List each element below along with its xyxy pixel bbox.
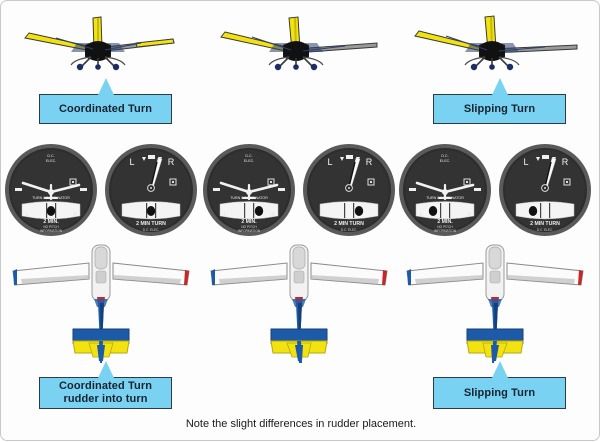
- svg-text:TURN COORDINATOR: TURN COORDINATOR: [32, 196, 70, 200]
- callout-pointer: [98, 361, 114, 378]
- column-coordinated: D.C. ELEC. TURN COORDINATOR: [1, 1, 201, 442]
- svg-text:L: L: [523, 157, 528, 167]
- svg-text:TURN COORDINATOR: TURN COORDINATOR: [230, 196, 268, 200]
- svg-text:2 MIN TURN: 2 MIN TURN: [530, 221, 560, 227]
- svg-text:D.C.: D.C.: [441, 154, 448, 158]
- svg-text:D.C. ELEC.: D.C. ELEC.: [537, 228, 554, 232]
- callout-bottom-coordinated: Coordinated Turn rudder into turn: [39, 377, 172, 409]
- callout-top-label: Coordinated Turn: [55, 103, 156, 116]
- turn-coordinator-instrument-2: D.C. ELEC. TURN COORDINATOR: [203, 144, 295, 236]
- callout-top-coordinated: Coordinated Turn: [39, 94, 172, 124]
- svg-text:R: R: [73, 212, 77, 218]
- bottom-aircraft-skidding: [395, 241, 595, 371]
- svg-text:INFORMATION: INFORMATION: [434, 229, 457, 233]
- column-slipping: D.C. ELEC. TURN COORDINATOR: [199, 1, 399, 442]
- svg-text:ELEC.: ELEC.: [46, 159, 56, 163]
- column-skidding: D.C. ELEC. TURN COORDINATOR: [395, 1, 595, 442]
- turn-and-slip-indicator-2: L R 2 M: [303, 144, 395, 236]
- top-aircraft-skidding: [395, 5, 595, 71]
- svg-text:L: L: [25, 212, 28, 218]
- turn-coordinator-instrument-3: D.C. ELEC. TURN COORDINATOR: [399, 144, 491, 236]
- turn-and-slip-indicator-1: L R 2 M: [105, 144, 197, 236]
- callout-bottom-label: Coordinated Turn rudder into turn: [55, 380, 156, 406]
- svg-text:R: R: [562, 157, 569, 167]
- svg-text:R: R: [271, 212, 275, 218]
- bottom-aircraft-slipping: [199, 241, 399, 371]
- svg-text:TURN COORDINATOR: TURN COORDINATOR: [426, 196, 464, 200]
- svg-text:R: R: [168, 157, 175, 167]
- svg-text:L: L: [327, 157, 332, 167]
- instrument-pair-coordinated: D.C. ELEC. TURN COORDINATOR: [1, 141, 201, 239]
- turn-and-slip-indicator-3: L R 2 M: [499, 144, 591, 236]
- svg-text:R: R: [467, 212, 471, 218]
- svg-text:INFORMATION: INFORMATION: [40, 229, 63, 233]
- svg-text:L: L: [419, 212, 422, 218]
- callout-pointer: [98, 78, 114, 95]
- top-aircraft-slipping: [199, 5, 399, 71]
- callout-top-label: Slipping Turn: [460, 103, 539, 116]
- svg-text:INFORMATION: INFORMATION: [238, 229, 261, 233]
- svg-text:R: R: [366, 157, 373, 167]
- top-aircraft-coordinated: [1, 5, 201, 71]
- instrument-pair-slipping: D.C. ELEC. TURN COORDINATOR: [199, 141, 399, 239]
- figure-caption: Note the slight differences in rudder pl…: [1, 418, 600, 430]
- figure-frame: D.C. ELEC. TURN COORDINATOR: [0, 0, 600, 441]
- svg-text:D.C.: D.C.: [47, 154, 54, 158]
- svg-text:ELEC.: ELEC.: [440, 159, 450, 163]
- callout-bottom-label: Slipping Turn: [460, 387, 539, 400]
- svg-text:2 MIN TURN: 2 MIN TURN: [334, 221, 364, 227]
- instrument-pair-skidding: D.C. ELEC. TURN COORDINATOR: [395, 141, 595, 239]
- turn-coordinator-instrument-1: D.C. ELEC. TURN COORDINATOR: [5, 144, 97, 236]
- svg-text:L: L: [129, 157, 134, 167]
- svg-text:ELEC.: ELEC.: [244, 159, 254, 163]
- svg-text:2 MIN TURN: 2 MIN TURN: [136, 221, 166, 227]
- svg-text:D.C. ELEC.: D.C. ELEC.: [341, 228, 358, 232]
- svg-text:D.C.: D.C.: [245, 154, 252, 158]
- svg-text:D.C. ELEC.: D.C. ELEC.: [143, 228, 160, 232]
- svg-text:L: L: [223, 212, 226, 218]
- bottom-aircraft-coordinated: [1, 241, 201, 371]
